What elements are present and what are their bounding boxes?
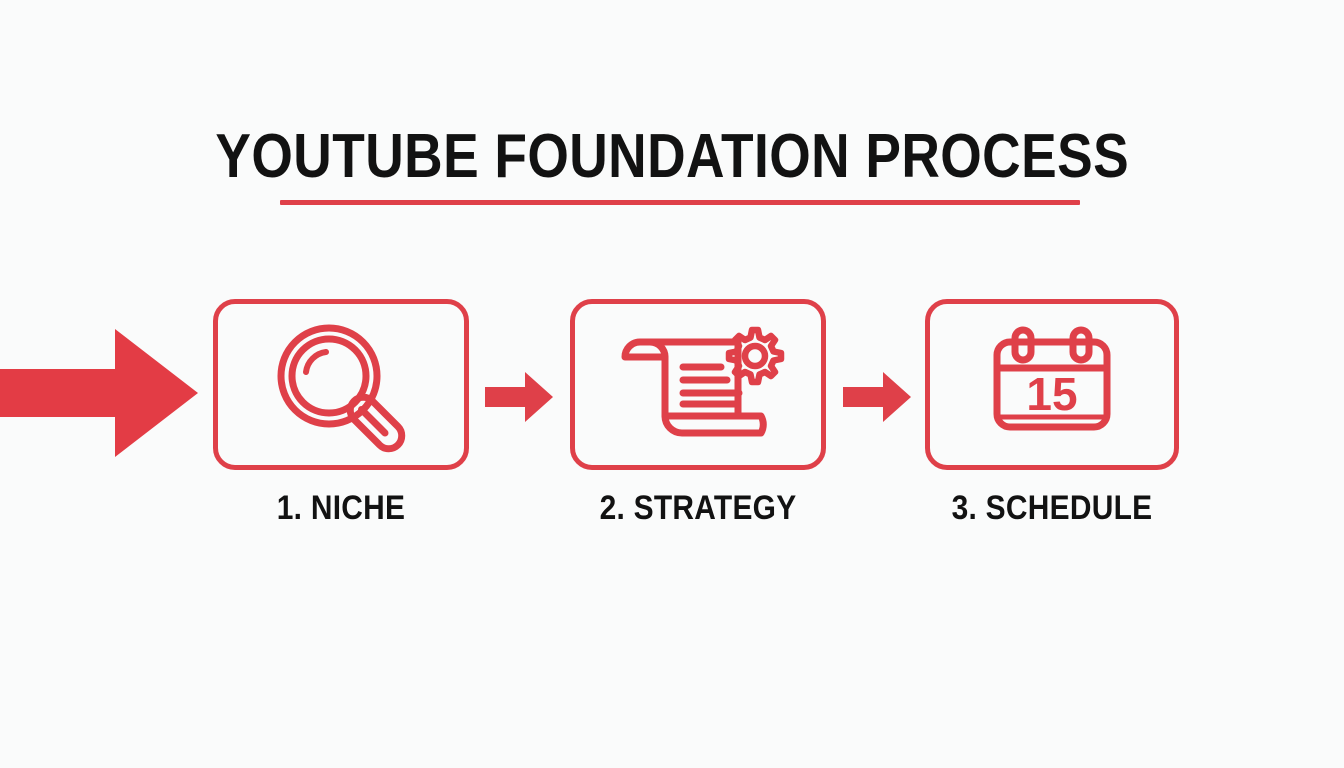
process-steps: 1. NICHE	[0, 299, 1344, 539]
step-card-schedule[interactable]: 15 3. SCHEDULE	[925, 299, 1179, 526]
step-card-niche-box	[213, 299, 469, 470]
page-title: YOUTUBE FOUNDATION PROCESS	[215, 124, 1129, 190]
step-label-niche: 1. NICHE	[228, 490, 453, 526]
slide-canvas: YOUTUBE FOUNDATION PROCESS	[0, 0, 1344, 768]
step-card-strategy-box	[570, 299, 826, 470]
calendar-day-number: 15	[1026, 368, 1077, 420]
page-title-block: YOUTUBE FOUNDATION PROCESS	[0, 124, 1344, 190]
step-card-schedule-box: 15	[925, 299, 1179, 470]
scroll-gear-icon	[613, 320, 783, 450]
step-label-schedule: 3. SCHEDULE	[940, 490, 1164, 526]
step-card-niche[interactable]: 1. NICHE	[213, 299, 469, 526]
title-underline	[280, 200, 1080, 205]
step-label-strategy: 2. STRATEGY	[585, 490, 810, 526]
magnifying-glass-icon	[266, 319, 416, 451]
calendar-icon: 15	[987, 324, 1117, 446]
step-card-strategy[interactable]: 2. STRATEGY	[570, 299, 826, 526]
